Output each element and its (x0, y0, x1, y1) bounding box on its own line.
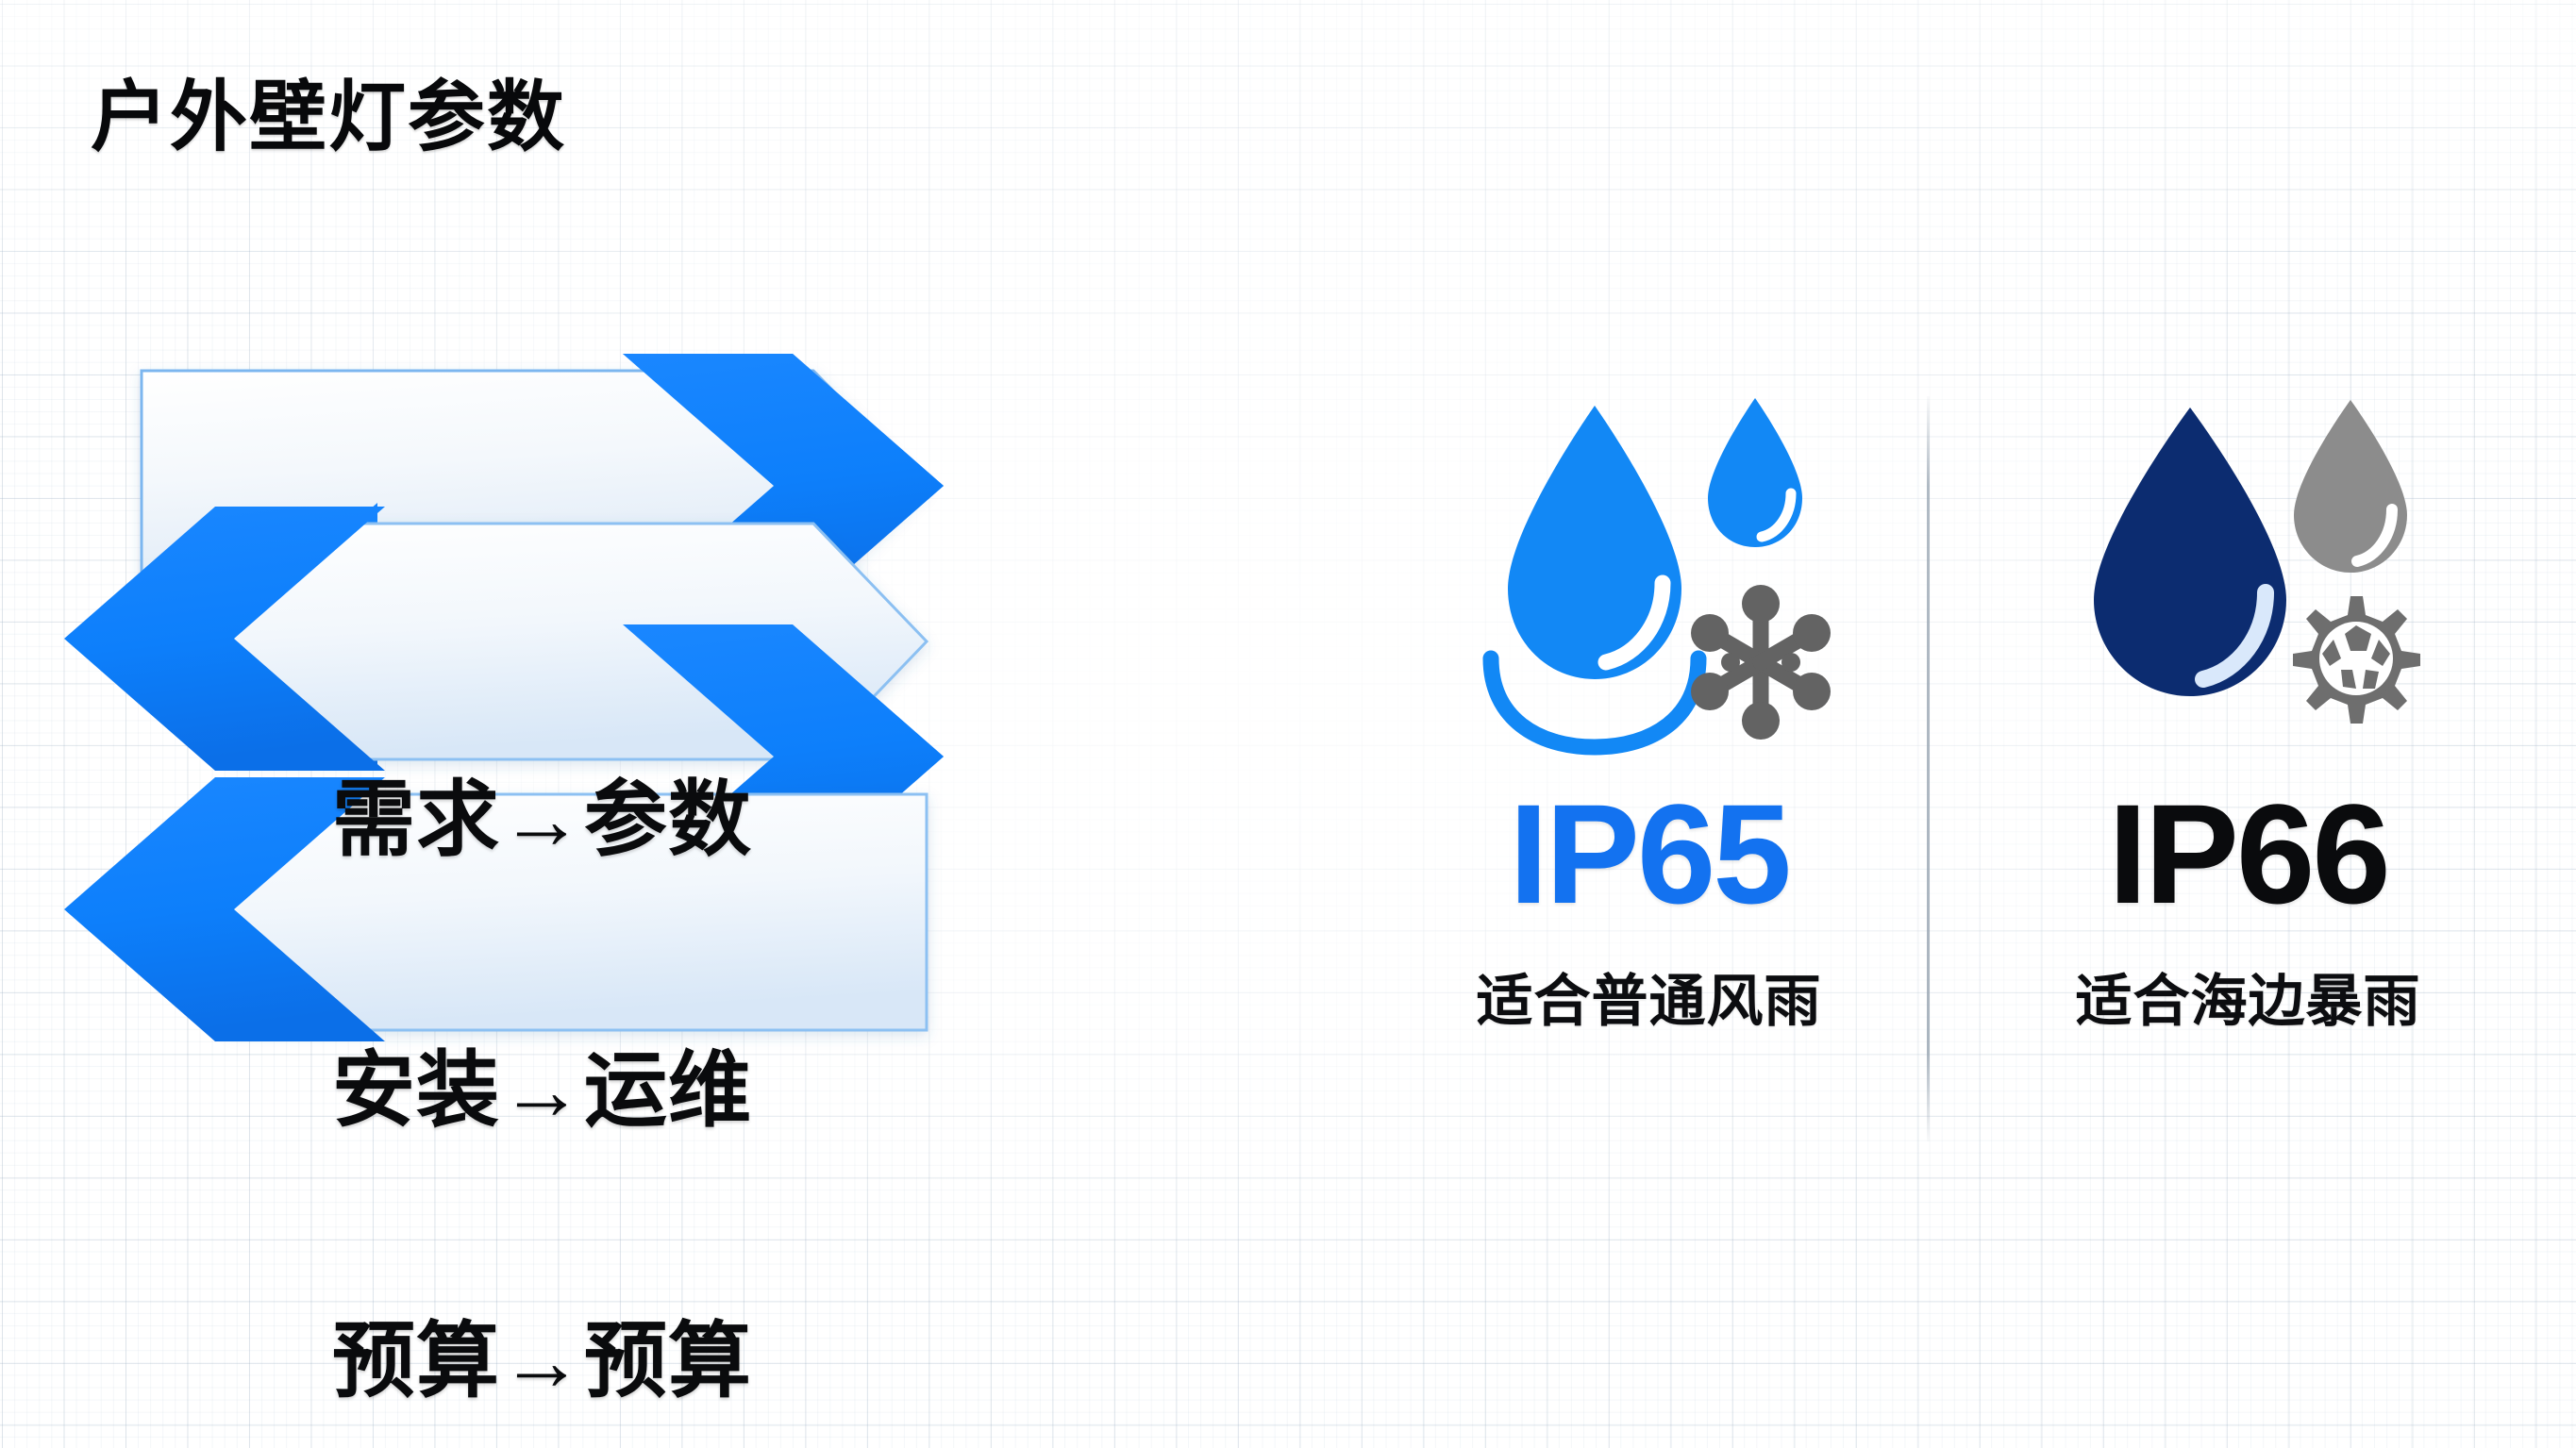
ip-card-ip66[interactable]: IP66 适合海边暴雨 (1949, 377, 2548, 1160)
ip66-caption: 适合海边暴雨 (2076, 974, 2421, 1030)
ip66-code: IP66 (2108, 783, 2388, 924)
slide-canvas: 户外壁灯参数 (0, 0, 2576, 1448)
small-water-drop-icon (1708, 398, 1802, 547)
ip65-illustration (1451, 377, 1848, 774)
page-title: 户外壁灯参数 (91, 79, 566, 157)
water-drop-icon (2094, 408, 2286, 696)
process-flow-diagram: 需求→参数 安装→运维 预算→预算 (0, 335, 1321, 1231)
water-drop-icon (1508, 406, 1681, 679)
snowflake-icon (1691, 585, 1831, 740)
ip66-illustration (2050, 377, 2447, 774)
flow-step-2-label: 安装→运维 (332, 1049, 752, 1132)
gear-globe-icon (2293, 596, 2420, 724)
flow-step-3-label: 预算→预算 (332, 1320, 752, 1403)
ip65-caption: 适合普通风雨 (1477, 974, 1822, 1030)
ip-rating-comparison: IP65 适合普通风雨 (1349, 377, 2548, 1160)
ip-card-ip65[interactable]: IP65 适合普通风雨 (1349, 377, 1949, 1160)
ip65-code: IP65 (1509, 783, 1789, 924)
small-water-drop-icon (2294, 400, 2407, 573)
flow-step-1-label: 需求→参数 (332, 778, 752, 861)
